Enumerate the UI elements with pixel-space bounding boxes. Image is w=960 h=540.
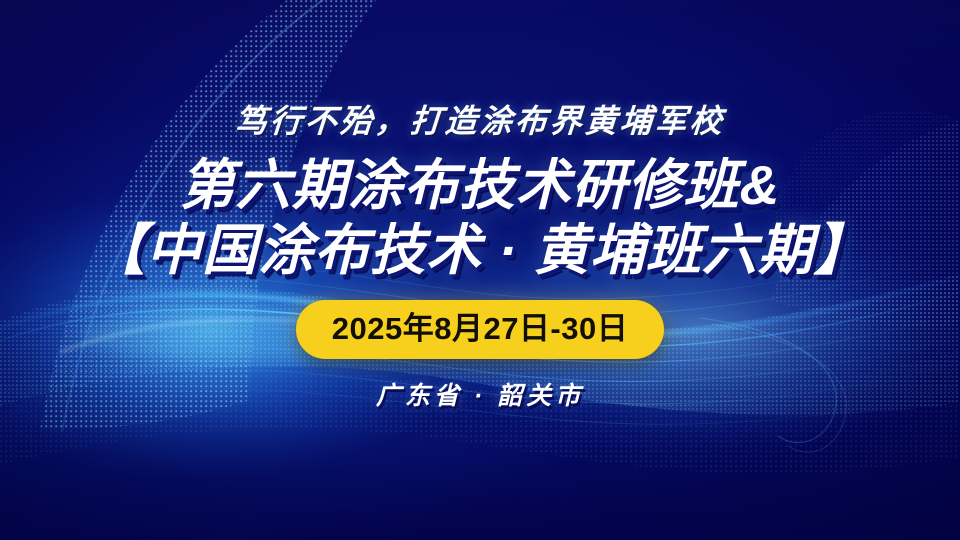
location-label: 广东省 · 韶关市	[376, 376, 584, 412]
title-line-1: 第六期涂布技术研修班&	[180, 158, 781, 213]
title-line-2: 【中国涂布技术 · 黄埔班六期】	[90, 223, 870, 278]
tagline: 笃行不殆，打造涂布界黄埔军校	[233, 96, 726, 142]
date-badge: 2025年8月27日-30日	[296, 300, 665, 359]
banner-content: 笃行不殆，打造涂布界黄埔军校 第六期涂布技术研修班& 【中国涂布技术 · 黄埔班…	[0, 0, 960, 540]
event-banner: 笃行不殆，打造涂布界黄埔军校 第六期涂布技术研修班& 【中国涂布技术 · 黄埔班…	[0, 0, 960, 540]
